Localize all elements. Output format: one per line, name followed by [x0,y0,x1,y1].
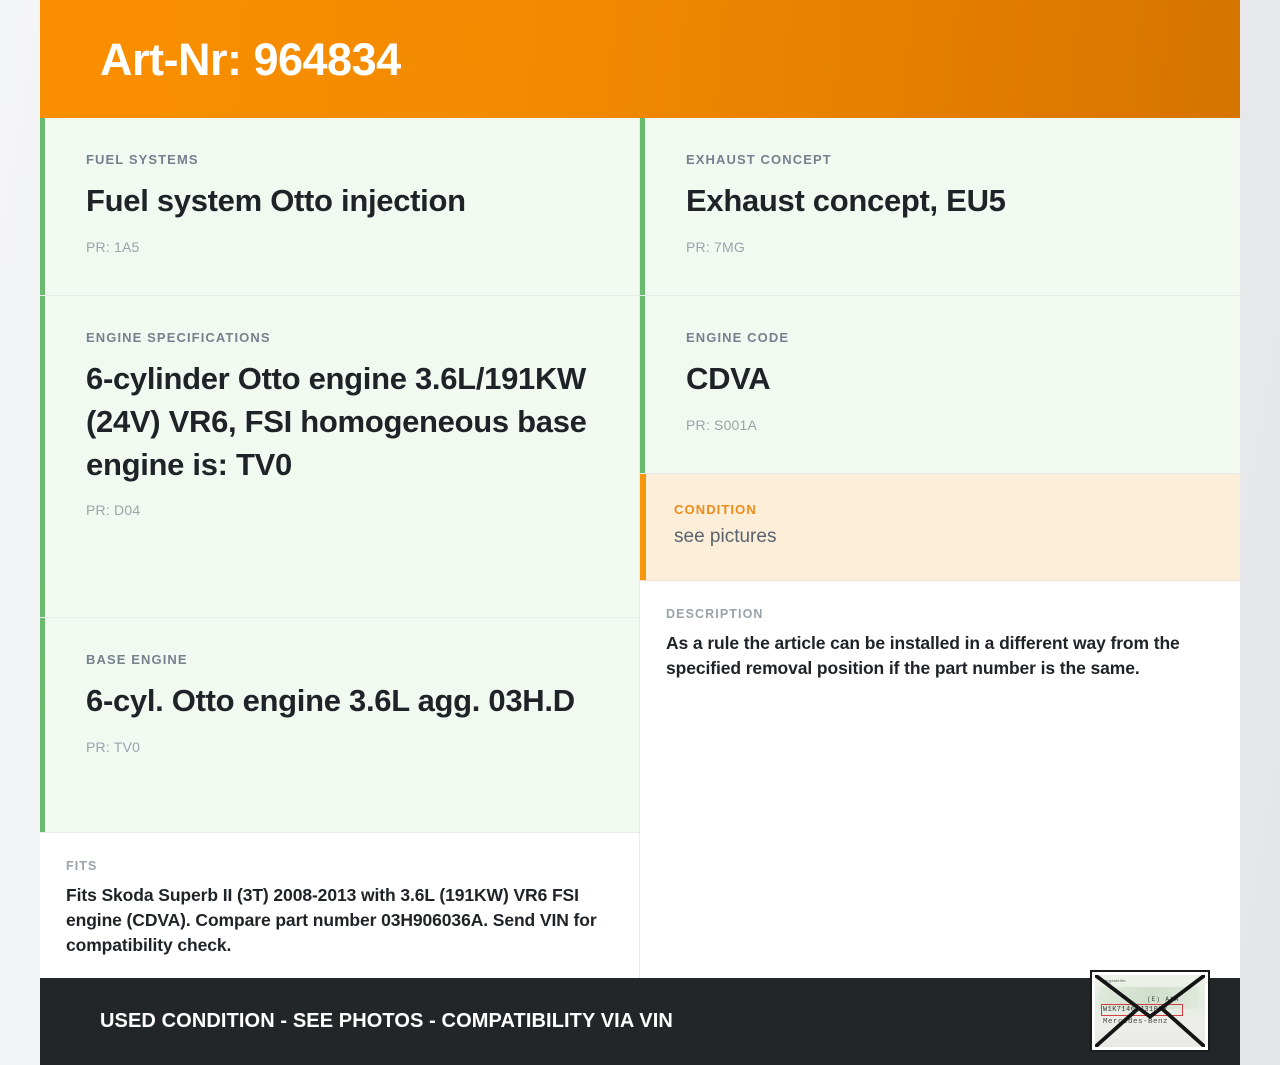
spec-value: 6-cylinder Otto engine 3.6L/191KW (24V) … [86,358,595,486]
content-area: FUEL SYSTEMS Fuel system Otto injection … [40,118,1240,978]
spec-pr-code: PR: D04 [86,502,595,518]
spec-card-base-engine: BASE ENGINE 6-cyl. Otto engine 3.6L agg.… [40,618,639,833]
spec-label: ENGINE CODE [686,330,1196,345]
right-column: EXHAUST CONCEPT Exhaust concept, EU5 PR:… [640,118,1240,978]
spec-label: FUEL SYSTEMS [86,152,595,167]
description-label: DESCRIPTION [666,607,1200,621]
doc-header-label: Fahrgestellnr. [1100,978,1127,983]
page-root: Art-Nr: 964834 FUEL SYSTEMS Fuel system … [0,0,1280,1065]
fits-text: Fits Skoda Superb II (3T) 2008-2013 with… [66,883,599,958]
spec-label: ENGINE SPECIFICATIONS [86,330,595,345]
condition-label: CONDITION [674,502,1196,517]
part-info-card: Art-Nr: 964834 FUEL SYSTEMS Fuel system … [40,0,1240,1065]
spec-card-fuel-systems: FUEL SYSTEMS Fuel system Otto injection … [40,118,639,296]
spec-card-engine-code: ENGINE CODE CDVA PR: S001A [640,296,1240,474]
fits-label: FITS [66,859,599,873]
page-title: Art-Nr: 964834 [100,37,401,82]
spec-value: Fuel system Otto injection [86,180,595,223]
doc-code-text: (E) A1A [1147,996,1179,1003]
vin-text: W1K71463J31002 [1103,1006,1167,1014]
footer-bar: USED CONDITION - SEE PHOTOS - COMPATIBIL… [40,978,1240,1065]
description-text: As a rule the article can be installed i… [666,631,1200,681]
condition-value: see pictures [674,525,1196,550]
right-column-filler [640,706,1240,978]
left-column: FUEL SYSTEMS Fuel system Otto injection … [40,118,640,978]
footer-text: USED CONDITION - SEE PHOTOS - COMPATIBIL… [100,1010,673,1033]
spec-label: BASE ENGINE [86,652,595,667]
spec-pr-code: PR: TV0 [86,739,595,755]
spec-value: Exhaust concept, EU5 [686,180,1196,223]
description-section: DESCRIPTION As a rule the article can be… [640,581,1240,707]
condition-card: CONDITION see pictures [640,474,1240,581]
doc-brand-text: Mercedes-Benz [1103,1018,1168,1026]
spec-card-exhaust-concept: EXHAUST CONCEPT Exhaust concept, EU5 PR:… [640,118,1240,296]
fits-section: FITS Fits Skoda Superb II (3T) 2008-2013… [40,833,639,984]
vehicle-registration-document: Fahrgestellnr. (E) A1A W1K71463J31002 Me… [1095,975,1205,1047]
spec-pr-code: PR: 7MG [686,239,1196,255]
header-bar: Art-Nr: 964834 [40,0,1240,118]
spec-value: CDVA [686,358,1196,401]
vin-envelope-thumbnail[interactable]: Fahrgestellnr. (E) A1A W1K71463J31002 Me… [1090,970,1210,1052]
spec-label: EXHAUST CONCEPT [686,152,1196,167]
spec-pr-code: PR: S001A [686,417,1196,433]
spec-value: 6-cyl. Otto engine 3.6L agg. 03H.D [86,680,595,723]
spec-card-engine-specifications: ENGINE SPECIFICATIONS 6-cylinder Otto en… [40,296,639,618]
spec-pr-code: PR: 1A5 [86,239,595,255]
